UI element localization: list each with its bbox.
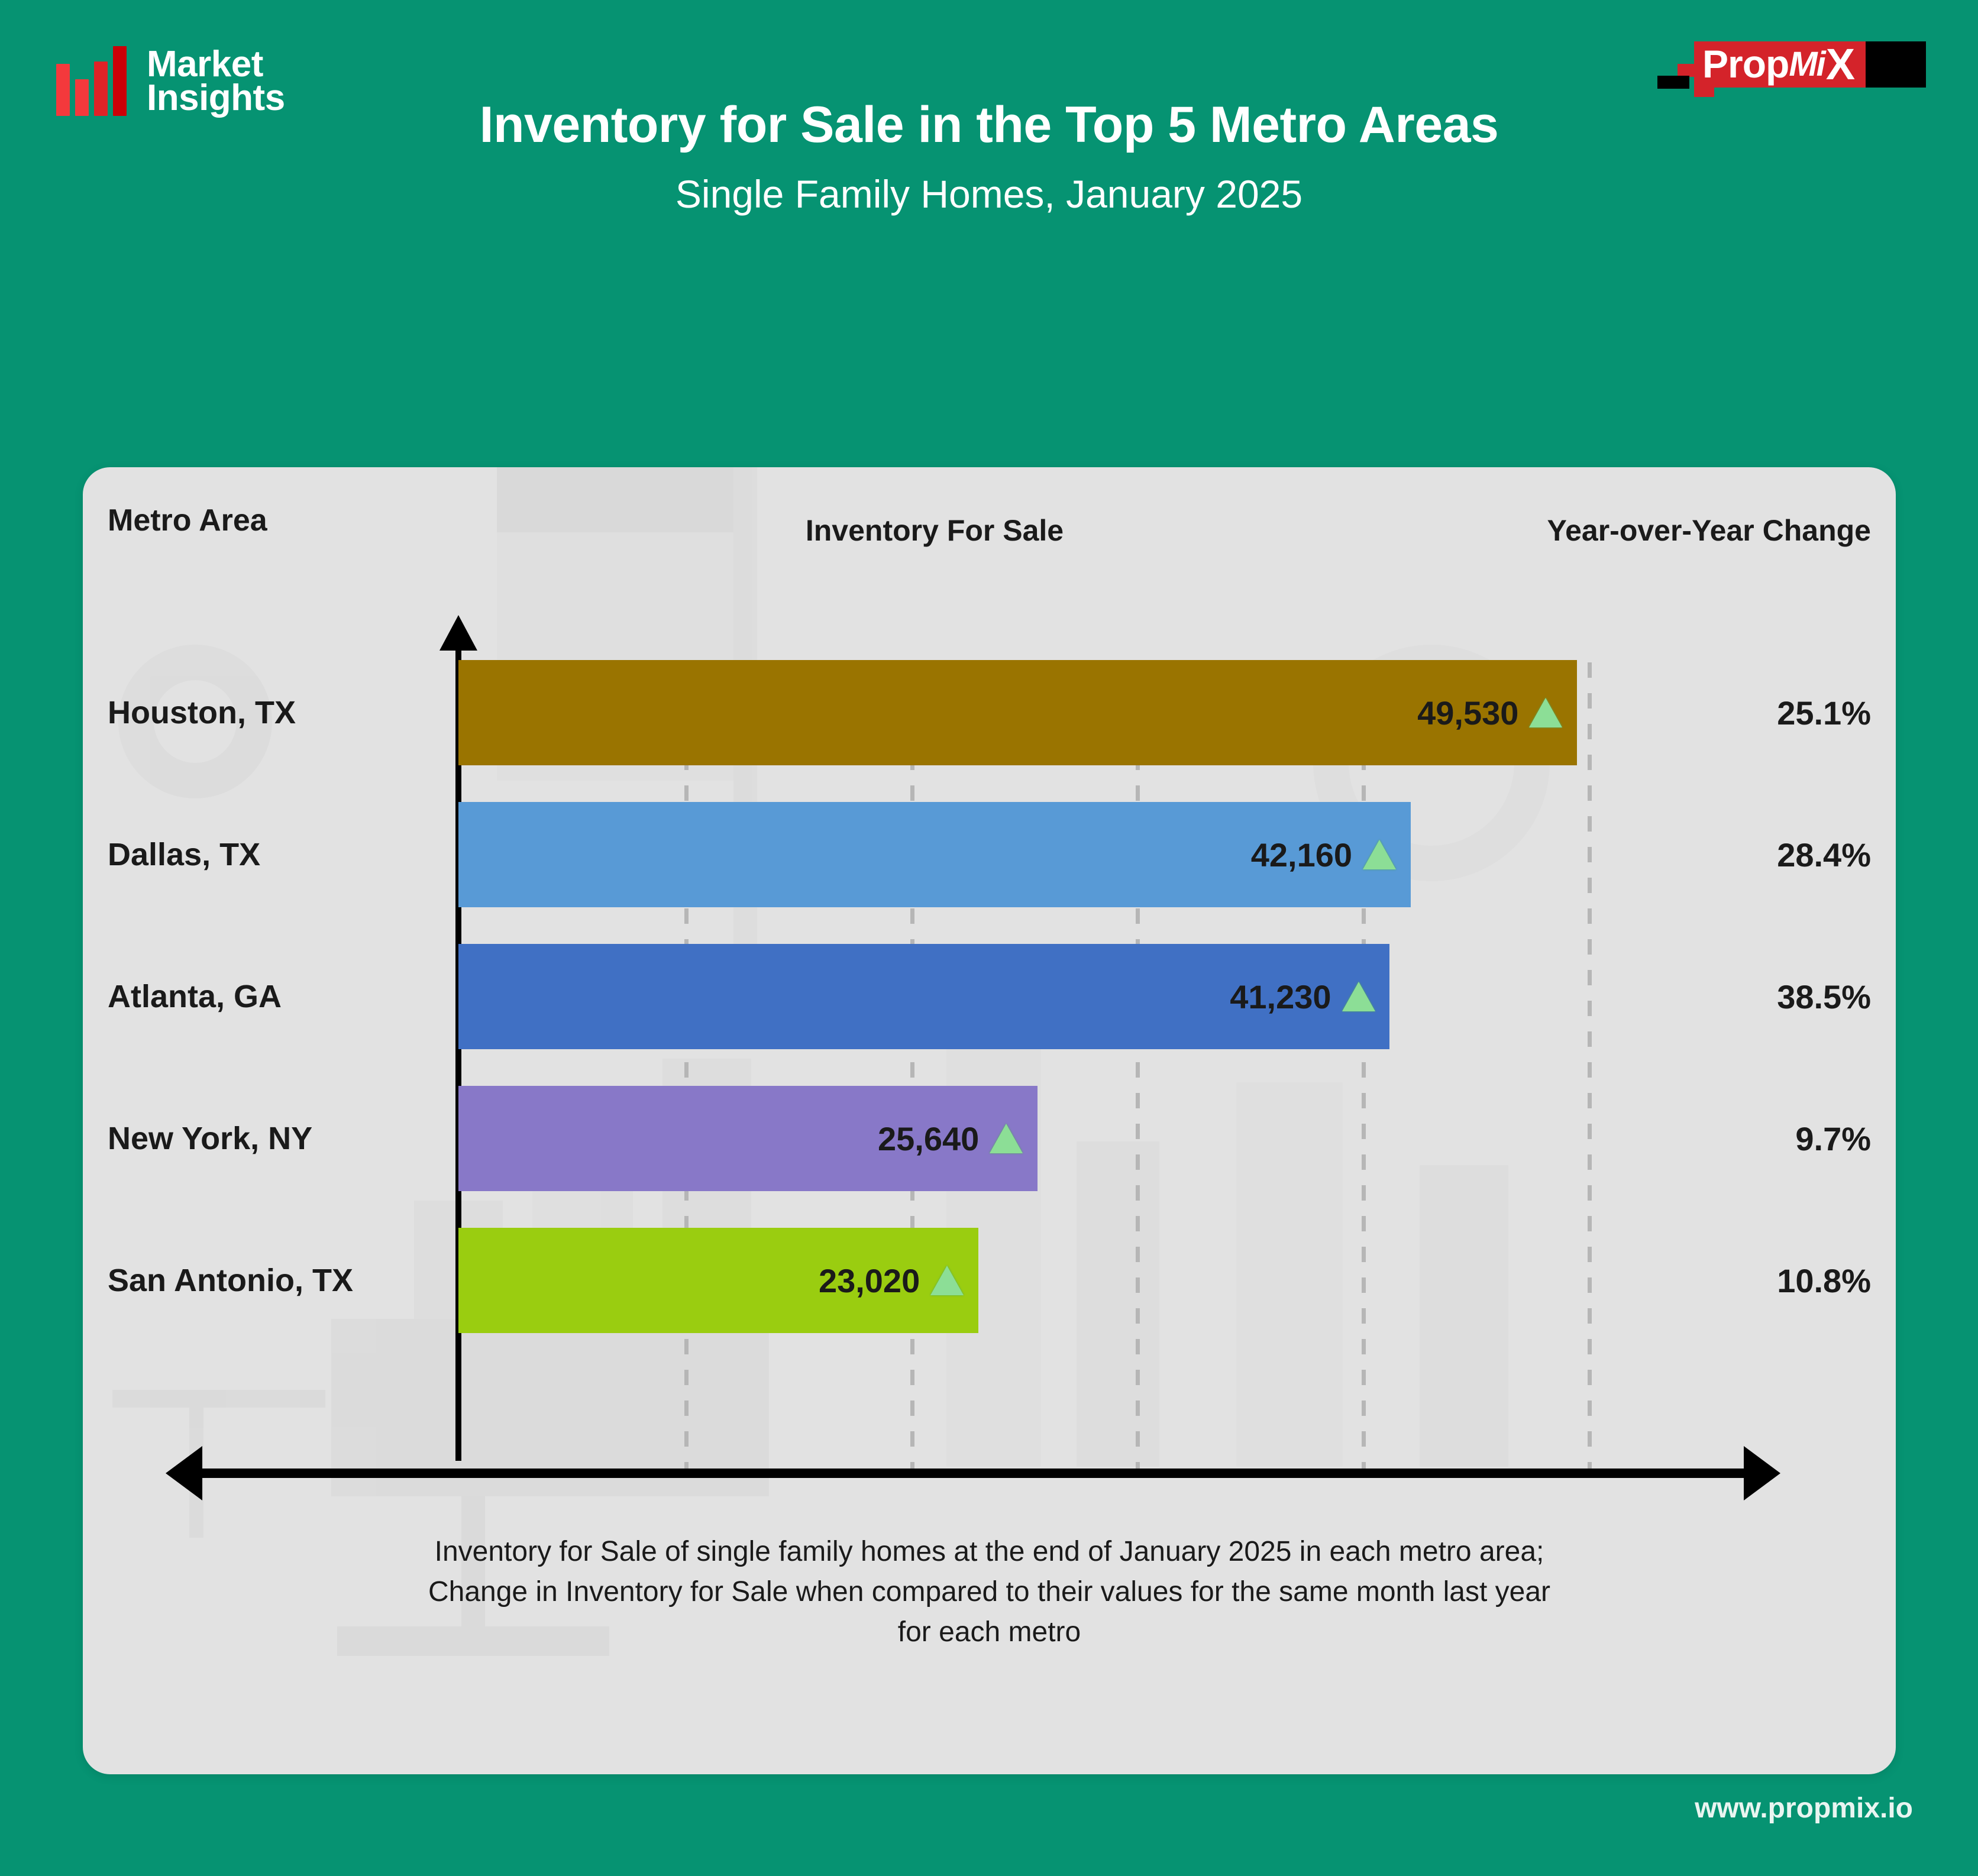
inventory-value: 49,530 bbox=[1417, 694, 1518, 732]
yoy-change-value: 28.4% bbox=[1777, 787, 1871, 923]
table-row: New York, NY25,6409.7% bbox=[83, 1070, 1896, 1207]
propmix-wordmark: Prop Mi X bbox=[1702, 39, 1854, 89]
value-group: 41,230 bbox=[1230, 929, 1375, 1065]
metro-label: New York, NY bbox=[108, 1070, 312, 1207]
yoy-change-value: 25.1% bbox=[1777, 645, 1871, 781]
value-group: 25,640 bbox=[878, 1070, 1023, 1207]
propmix-black-block bbox=[1866, 41, 1926, 88]
inventory-value: 42,160 bbox=[1251, 836, 1352, 874]
page-header: Market Insights Prop Mi X Inventory for … bbox=[0, 0, 1978, 195]
chart-card: Metro Area Inventory For Sale Year-over-… bbox=[83, 467, 1896, 1774]
propmix-prop-text: Prop bbox=[1702, 41, 1789, 86]
footnote-line-3: for each metro bbox=[83, 1612, 1896, 1652]
footnote-line-1: Inventory for Sale of single family home… bbox=[83, 1532, 1896, 1572]
inventory-value: 23,020 bbox=[819, 1262, 920, 1300]
propmix-x-text: X bbox=[1826, 39, 1854, 89]
table-row: San Antonio, TX23,02010.8% bbox=[83, 1212, 1896, 1348]
table-row: Dallas, TX42,16028.4% bbox=[83, 787, 1896, 923]
propmix-logo[interactable]: Prop Mi X bbox=[1648, 22, 1926, 92]
trend-up-triangle-icon bbox=[1342, 982, 1375, 1011]
page-subtitle: Single Family Homes, January 2025 bbox=[0, 172, 1978, 216]
inventory-bar bbox=[458, 660, 1577, 765]
metro-label: San Antonio, TX bbox=[108, 1212, 353, 1348]
inventory-value: 25,640 bbox=[878, 1120, 979, 1158]
metro-label: Dallas, TX bbox=[108, 787, 260, 923]
propmix-accent-square-black bbox=[1657, 76, 1689, 89]
value-group: 23,020 bbox=[819, 1212, 964, 1348]
table-row: Atlanta, GA41,23038.5% bbox=[83, 929, 1896, 1065]
value-group: 49,530 bbox=[1417, 645, 1562, 781]
page-title: Inventory for Sale in the Top 5 Metro Ar… bbox=[0, 96, 1978, 154]
trend-up-triangle-icon bbox=[1529, 698, 1562, 727]
trend-up-triangle-icon bbox=[1363, 840, 1396, 869]
website-link[interactable]: www.propmix.io bbox=[1695, 1792, 1913, 1825]
metro-label: Houston, TX bbox=[108, 645, 296, 781]
trend-up-triangle-icon bbox=[990, 1124, 1023, 1153]
yoy-change-value: 38.5% bbox=[1777, 929, 1871, 1065]
footnote-line-2: Change in Inventory for Sale when compar… bbox=[83, 1572, 1896, 1612]
trend-up-triangle-icon bbox=[930, 1266, 964, 1295]
value-group: 42,160 bbox=[1251, 787, 1396, 923]
propmix-accent-square-red-top bbox=[1678, 64, 1695, 77]
market-insights-line1: Market bbox=[147, 47, 285, 81]
table-row: Houston, TX49,53025.1% bbox=[83, 645, 1896, 781]
yoy-change-value: 10.8% bbox=[1777, 1212, 1871, 1348]
inventory-value: 41,230 bbox=[1230, 978, 1331, 1016]
metro-label: Atlanta, GA bbox=[108, 929, 282, 1065]
propmix-mi-text: Mi bbox=[1789, 44, 1824, 84]
footnote: Inventory for Sale of single family home… bbox=[83, 1532, 1896, 1652]
yoy-change-value: 9.7% bbox=[1795, 1070, 1871, 1207]
